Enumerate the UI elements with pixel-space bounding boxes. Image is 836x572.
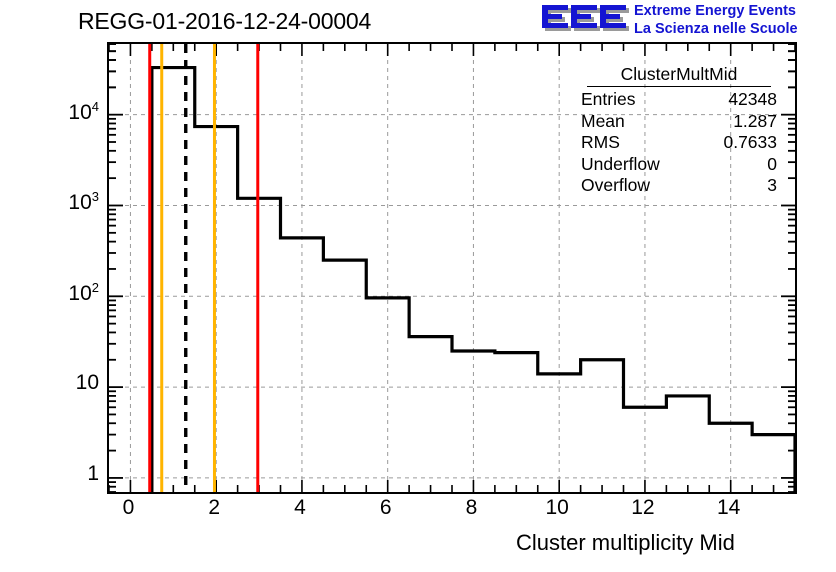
stats-label: Entries xyxy=(581,89,635,111)
x-tick-label-14: 14 xyxy=(709,496,749,520)
x-tick-label-8: 8 xyxy=(451,496,491,520)
x-tick-label-12: 12 xyxy=(623,496,663,520)
stats-box-title: ClusterMultMid xyxy=(587,64,771,87)
eee-logo-text: Extreme Energy Events La Scienza nelle S… xyxy=(634,2,798,38)
y-tick-label-4: 104 xyxy=(68,99,99,125)
x-tick-label-0: 0 xyxy=(108,496,148,520)
stats-value: 42348 xyxy=(728,89,777,111)
stats-label: Mean xyxy=(581,111,625,133)
x-tick-label-6: 6 xyxy=(366,496,406,520)
stats-label: RMS xyxy=(581,132,620,154)
stats-row: Entries42348 xyxy=(579,89,779,111)
x-tick-label-4: 4 xyxy=(280,496,320,520)
stats-value: 1.287 xyxy=(733,111,777,133)
y-tick-label-0: 1 xyxy=(87,462,99,486)
stats-label: Overflow xyxy=(581,175,650,197)
y-tick-label-3: 103 xyxy=(68,189,99,215)
stats-box: ClusterMultMid Entries42348Mean1.287RMS0… xyxy=(579,64,779,197)
stats-row: Overflow3 xyxy=(579,175,779,197)
page-title: REGG-01-2016-12-24-00004 xyxy=(78,8,371,35)
eee-logo-mark xyxy=(540,3,630,35)
x-axis-title: Cluster multiplicity Mid xyxy=(516,530,735,556)
y-tick-label-2: 102 xyxy=(68,280,99,306)
stats-value: 0 xyxy=(767,154,777,176)
stats-row: RMS0.7633 xyxy=(579,132,779,154)
marker-lines xyxy=(150,44,258,492)
eee-logo: Extreme Energy Events La Scienza nelle S… xyxy=(540,2,832,40)
stats-box-rows: Entries42348Mean1.287RMS0.7633Underflow0… xyxy=(579,89,779,197)
eee-logo-line2: La Scienza nelle Scuole xyxy=(634,20,798,38)
stats-value: 0.7633 xyxy=(723,132,777,154)
x-tick-label-2: 2 xyxy=(194,496,234,520)
stats-value: 3 xyxy=(767,175,777,197)
stats-row: Underflow0 xyxy=(579,154,779,176)
y-tick-label-1: 10 xyxy=(76,371,99,395)
stats-label: Underflow xyxy=(581,154,660,176)
x-tick-label-10: 10 xyxy=(537,496,577,520)
stats-row: Mean1.287 xyxy=(579,111,779,133)
eee-logo-line1: Extreme Energy Events xyxy=(634,2,798,20)
